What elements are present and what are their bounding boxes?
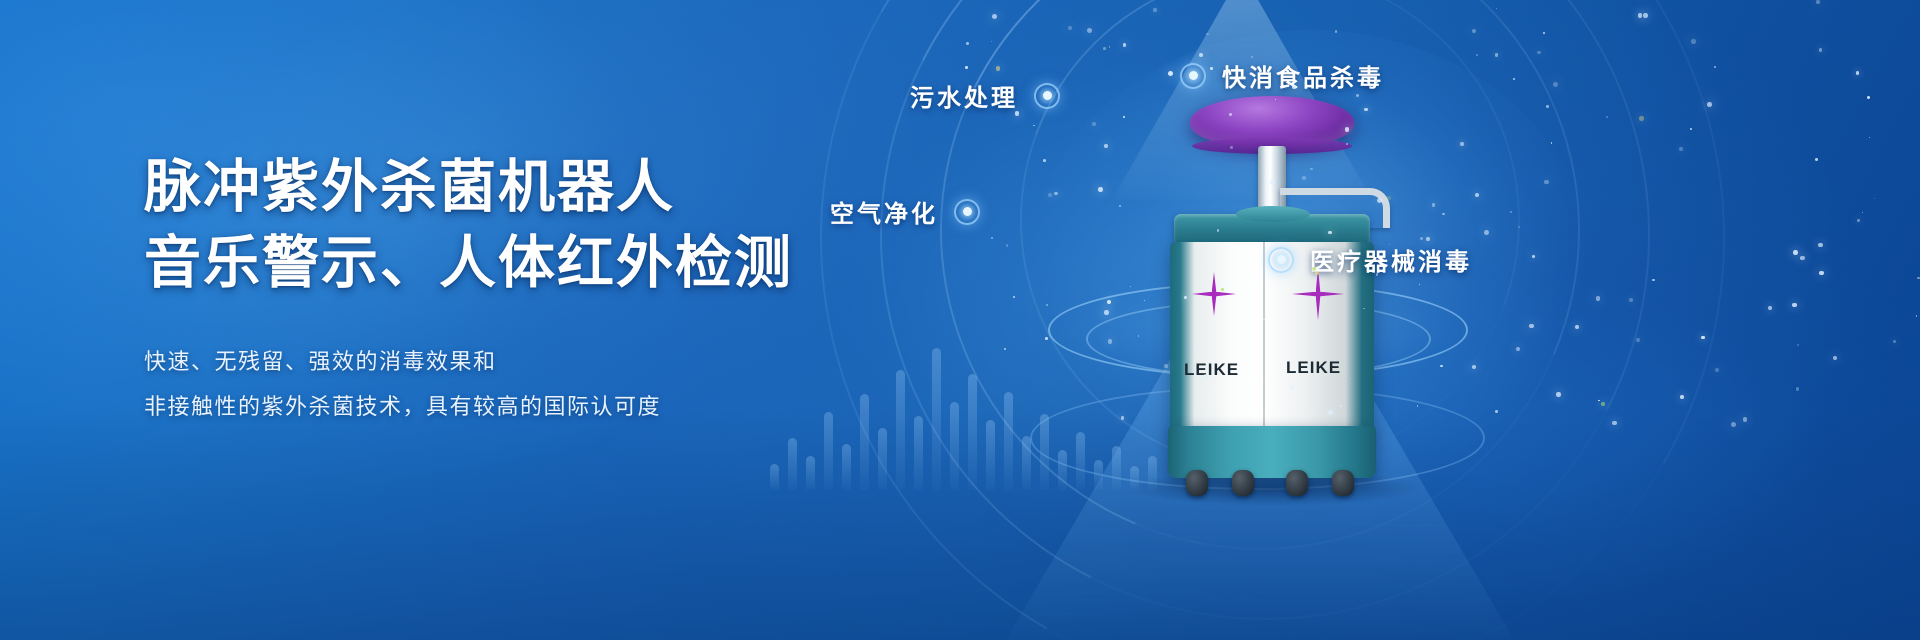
particle <box>1328 410 1333 415</box>
particle <box>1818 243 1822 247</box>
particle <box>1006 244 1009 247</box>
particle <box>1819 271 1824 276</box>
particle <box>1691 39 1696 44</box>
particle <box>1345 127 1349 131</box>
particle <box>1639 116 1644 121</box>
particle <box>1629 298 1633 302</box>
particle <box>1376 273 1378 275</box>
wave-bar <box>770 464 779 490</box>
headline-line-2: 音乐警示、人体红外检测 <box>144 226 864 302</box>
copy-block: 脉冲紫外杀菌机器人 音乐警示、人体红外检测 快速、无残留、强效的消毒效果和 非接… <box>144 150 864 429</box>
particle <box>1104 310 1108 314</box>
particle <box>1816 0 1820 4</box>
product-illustration: LEIKE LEIKE 污水处理 快消食品杀毒 空气净化 医疗器械消毒 <box>880 0 1920 640</box>
particle <box>1556 392 1560 396</box>
particle <box>1108 339 1112 343</box>
callout-label: 医疗器械消毒 <box>1310 242 1472 277</box>
wave-bar <box>788 438 797 490</box>
particle <box>1013 296 1014 297</box>
particle <box>1043 159 1046 162</box>
particle <box>1518 226 1520 228</box>
particle <box>1432 203 1436 207</box>
particle <box>1015 111 1019 115</box>
promo-banner: 脉冲紫外杀菌机器人 音乐警示、人体红外检测 快速、无残留、强效的消毒效果和 非接… <box>0 0 1920 640</box>
callout-sewage-treatment: 污水处理 <box>910 78 1060 113</box>
brand-label-right: LEIKE <box>1286 358 1341 378</box>
particle <box>1476 54 1478 56</box>
particle <box>1652 279 1654 281</box>
callout-node-icon <box>1268 247 1294 273</box>
wave-bar <box>806 456 815 490</box>
particle <box>1275 99 1276 100</box>
callout-medical-device-disinfection: 医疗器械消毒 <box>1268 242 1472 277</box>
particle <box>1510 211 1512 213</box>
particle <box>1045 337 1048 340</box>
particle <box>1328 231 1332 235</box>
particle <box>1815 158 1818 161</box>
particle <box>1098 187 1103 192</box>
particle <box>1054 192 1058 196</box>
particle <box>1107 300 1111 304</box>
callout-node-icon <box>1180 63 1206 89</box>
particle <box>996 66 1000 70</box>
particle <box>1251 56 1253 58</box>
uv-sterilization-robot: LEIKE LEIKE <box>1162 96 1382 486</box>
callout-air-purification: 空气净化 <box>830 194 980 229</box>
particle <box>1211 416 1213 418</box>
particle <box>1229 113 1231 115</box>
particle <box>1495 53 1499 57</box>
subcopy-line-2: 非接触性的紫外杀菌技术，具有较高的国际认可度 <box>144 384 864 429</box>
brand-label-left: LEIKE <box>1184 360 1239 380</box>
callout-label: 空气净化 <box>830 194 938 229</box>
wave-bar <box>824 412 833 490</box>
particle <box>1087 28 1092 33</box>
particle <box>1707 102 1712 107</box>
particle <box>1484 230 1489 235</box>
particle <box>1800 256 1804 260</box>
headline-line-1: 脉冲紫外杀菌机器人 <box>144 156 675 219</box>
particle <box>1184 296 1187 299</box>
particle <box>1575 325 1579 329</box>
particle <box>966 42 969 45</box>
particle <box>1636 338 1640 342</box>
callout-label: 快消食品杀毒 <box>1222 58 1384 93</box>
particle <box>1544 180 1549 185</box>
sparkle-star-icon-left <box>1192 272 1236 316</box>
particle <box>1315 271 1319 275</box>
particle <box>1197 344 1200 347</box>
particle <box>1612 421 1616 425</box>
particle <box>1916 315 1918 317</box>
callout-node-icon <box>1034 83 1060 109</box>
particle <box>1203 374 1208 379</box>
particle <box>1793 250 1797 254</box>
particle <box>1346 143 1348 145</box>
particle <box>1819 48 1822 51</box>
particle <box>1164 364 1168 368</box>
particle <box>1743 417 1747 421</box>
particle <box>1310 168 1313 171</box>
callout-fmcg-disinfection: 快消食品杀毒 <box>1180 58 1384 93</box>
particle <box>1426 237 1430 241</box>
particle <box>1856 71 1860 75</box>
particle <box>1335 30 1337 32</box>
particle <box>1638 13 1642 17</box>
particle <box>1440 365 1442 367</box>
caster-wheel <box>1286 470 1308 496</box>
particle <box>1153 8 1157 12</box>
particle <box>1768 306 1772 310</box>
particle <box>965 66 968 69</box>
unit-body-seam <box>1263 242 1265 432</box>
particle <box>1543 32 1545 34</box>
particle <box>1862 212 1863 213</box>
particle <box>991 41 992 42</box>
callout-node-icon <box>954 199 980 225</box>
particle <box>1206 33 1208 35</box>
particle <box>1270 180 1275 185</box>
subcopy-line-1: 快速、无残留、强效的消毒效果和 <box>144 339 864 384</box>
caster-wheel <box>1232 470 1254 496</box>
particle <box>1601 402 1605 406</box>
particle <box>1103 47 1106 50</box>
particle <box>1092 122 1096 126</box>
particle <box>1138 335 1139 336</box>
caster-wheel <box>1186 470 1208 496</box>
particle <box>1389 244 1390 245</box>
particle <box>1104 144 1108 148</box>
callout-label: 污水处理 <box>910 78 1018 113</box>
headline: 脉冲紫外杀菌机器人 音乐警示、人体红外检测 <box>144 150 864 303</box>
particle <box>1460 142 1463 145</box>
particle <box>1119 205 1121 207</box>
caster-wheel <box>1332 470 1354 496</box>
particle <box>1797 344 1799 346</box>
wave-bar <box>842 444 851 490</box>
subcopy: 快速、无残留、强效的消毒效果和 非接触性的紫外杀菌技术，具有较高的国际认可度 <box>144 339 864 429</box>
particle <box>1792 303 1796 307</box>
